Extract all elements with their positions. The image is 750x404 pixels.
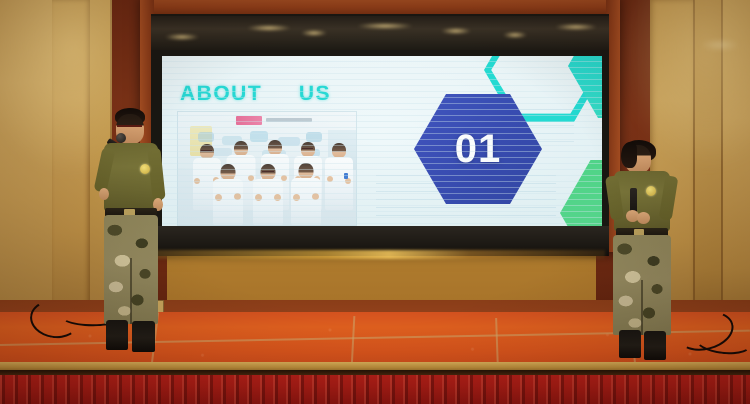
stage-skirt-pleats — [0, 375, 750, 404]
presenter-right — [608, 140, 684, 358]
glasses-icon — [117, 125, 142, 132]
photo-person — [324, 143, 354, 210]
photo-person — [252, 164, 284, 225]
presenter-left-boot-right — [132, 321, 155, 352]
presenter-left-hand-near — [99, 188, 109, 200]
screen-bezel-bottom-reflection — [155, 250, 605, 259]
stage-presentation-scene: 01 ABOUT US — [0, 0, 750, 404]
presenter-right-hand-right — [637, 212, 650, 224]
presenter-left-leg-split — [130, 258, 132, 324]
slide-section-number: 01 — [414, 94, 542, 204]
presenter-right-hair-side — [621, 142, 637, 168]
projected-slide: 01 ABOUT US — [162, 56, 602, 228]
slide-team-photo — [178, 112, 356, 225]
photo-poster-title — [236, 116, 262, 125]
uniform-badge-icon — [140, 164, 150, 174]
photo-person — [290, 163, 322, 225]
presenter-right-boot-left — [619, 330, 641, 358]
presenter-right-boot-right — [644, 331, 666, 360]
microphone-head-icon — [116, 133, 126, 143]
hexagon-filled-green-icon — [560, 160, 602, 228]
slide-heading: ABOUT US — [180, 82, 331, 106]
screen-bezel-gloss-strip — [151, 16, 609, 50]
uniform-badge-icon — [646, 186, 656, 196]
photo-person — [212, 164, 244, 225]
presenter-right-leg-split — [641, 280, 643, 335]
presenter-left — [96, 108, 172, 356]
photo-poster-subtitle — [266, 118, 312, 122]
wall-specular-highlight — [700, 40, 740, 50]
presenter-left-boot-left — [106, 320, 128, 350]
